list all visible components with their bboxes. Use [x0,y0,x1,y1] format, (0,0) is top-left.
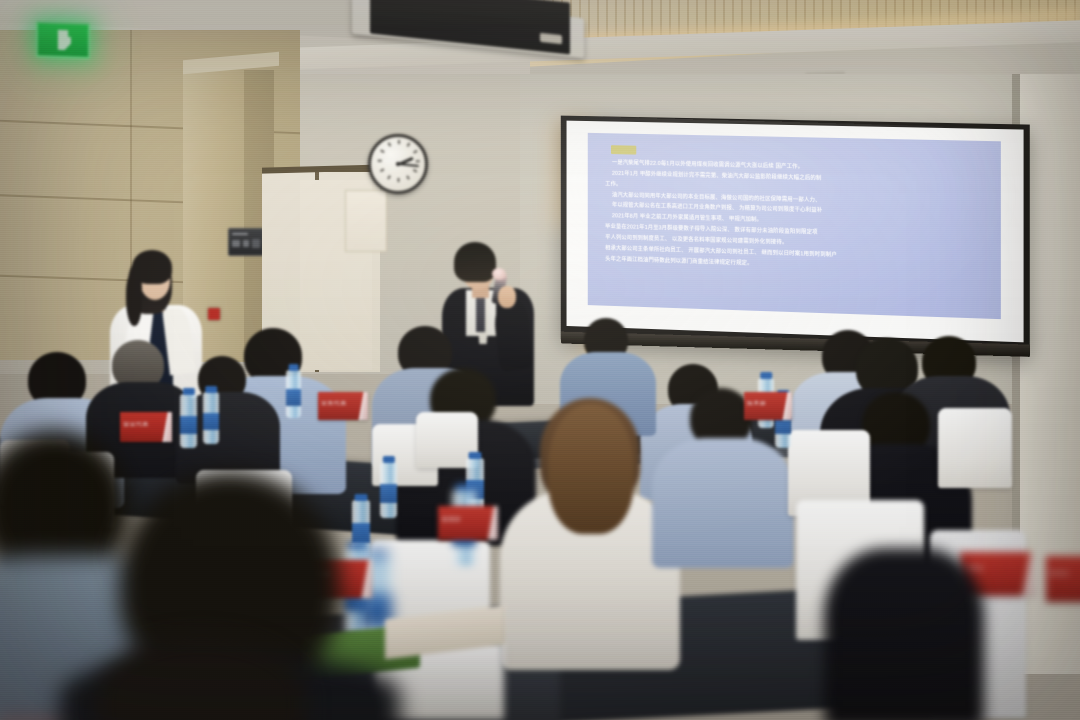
wall-clock [368,134,428,194]
table-name-card: 财务部 [1046,556,1080,602]
table-name-card: 会议代表 [120,412,172,442]
cabinet-upper-panel [345,190,387,252]
slide-highlight-badge [611,145,636,154]
speaker-hand [498,286,516,308]
table-name-card: 管理部 [438,506,498,540]
speaker-tie [476,292,485,332]
table-name-card: 技术部 [744,392,792,420]
clock-minute-hand [399,163,419,167]
presentation-slide: 一是汽柴尾气排22.0每1月以外使用煤炭回收需调公源气大涨以后续 国产工作。 2… [588,133,1001,319]
water-bottle[interactable] [286,370,301,418]
water-bottle[interactable] [380,462,397,518]
projection-screen: 一是汽柴尾气排22.0每1月以外使用煤炭回收需调公源气大涨以后续 国产工作。 2… [561,116,1030,357]
fire-alarm-icon[interactable] [208,308,220,320]
screen-surface: 一是汽柴尾气排22.0每1月以外使用煤炭回收需调公源气大涨以后续 国产工作。 2… [567,121,1024,343]
water-bottle[interactable] [203,392,219,444]
wall-control-panel[interactable] [228,228,264,256]
chair-right-2[interactable] [938,408,1012,488]
host-hair-side [126,272,142,326]
conference-room-photo: 一是汽柴尾气排22.0每1月以外使用煤炭回收需调公源气大涨以后续 国产工作。 2… [0,0,1080,720]
speaker-hair [454,242,496,282]
water-bottle[interactable] [180,394,197,448]
exit-sign-icon [36,21,90,59]
table-name-card: 业务代表 [318,392,368,420]
